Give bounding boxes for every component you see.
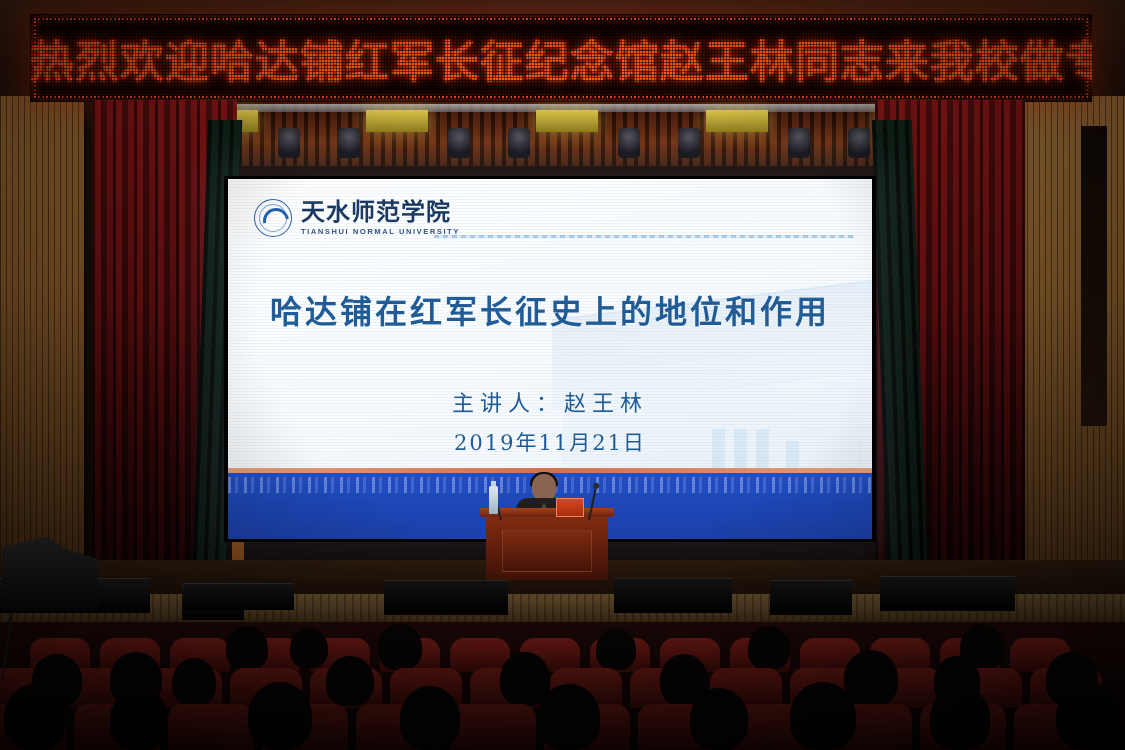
flower-pot [956,566,990,610]
wall-recess-right [1081,126,1107,426]
speaker-name-card [556,498,584,517]
stage-spotlight [848,128,870,158]
audience-head [172,658,216,706]
seat [168,704,254,750]
stage-spotlight [508,128,530,158]
audience-head [290,628,328,668]
seat [450,704,536,750]
led-welcome-banner: 热烈欢迎哈达铺红军长征纪念馆赵王林同志来我校做专题报告 [30,14,1092,102]
flower-pot [363,566,397,610]
stage-spotlight [618,128,640,158]
audience-head [790,682,856,750]
flower-pot [168,566,202,610]
stage-lamp [366,110,428,132]
university-logo: 天水师范学院 TIANSHUI NORMAL UNIVERSITY [254,199,460,237]
audience-head [690,688,748,750]
emblem-swirl-shape [258,203,294,239]
audience-head [110,688,168,750]
logo-decorative-rule [434,235,854,238]
flower-pot [920,566,954,610]
flower-pot [96,566,130,610]
stage-lamp [536,110,598,132]
flower-pot [327,566,361,610]
flower-pot [1028,566,1062,610]
flower-pot [757,566,791,610]
lectern-front-panel [502,530,592,572]
stage-monitor-speaker [384,580,508,615]
audience-head [400,686,460,750]
flower-pot [829,566,863,610]
audience-head [4,684,66,750]
flower-pot [1064,566,1098,610]
university-name-block: 天水师范学院 TIANSHUI NORMAL UNIVERSITY [301,200,460,236]
stage-spotlight [338,128,360,158]
audience-head [930,686,990,750]
stage-lamp [706,110,768,132]
audience-head [326,656,374,706]
slide-speaker-line: 主讲人：赵王林 [228,386,872,418]
audience-head [596,628,636,670]
audience-head [748,626,790,670]
flower-pot [793,566,827,610]
slide-title: 哈达铺在红军长征史上的地位和作用 [228,287,872,333]
stage-spotlight [278,128,300,158]
slide-date-line: 2019年11月21日 [228,427,872,457]
led-banner-text: 热烈欢迎哈达铺红军长征纪念馆赵王林同志来我校做专题报告 [30,26,1092,90]
presenter-head [532,474,556,501]
audience-head [844,650,898,706]
flower-pot [132,566,166,610]
audience-area [0,622,1125,750]
flower-pot [255,566,289,610]
audience-head [378,624,422,670]
stage-spotlight [678,128,700,158]
flower-pot [60,566,94,610]
auditorium-scene: 热烈欢迎哈达铺红军长征纪念馆赵王林同志来我校做专题报告 [0,0,1125,750]
stage-spotlight [448,128,470,158]
flower-pot [992,566,1026,610]
university-name-cn: 天水师范学院 [301,200,460,224]
flower-pot [455,566,489,610]
water-bottle [489,486,498,514]
university-emblem-icon [254,199,292,237]
flower-pot [865,566,899,610]
flower-pot [291,566,325,610]
audience-head [1056,682,1120,750]
audience-head [226,626,268,670]
stage-spotlight [788,128,810,158]
seat [450,638,510,672]
audience-head [538,684,600,750]
audience-head [248,682,312,750]
